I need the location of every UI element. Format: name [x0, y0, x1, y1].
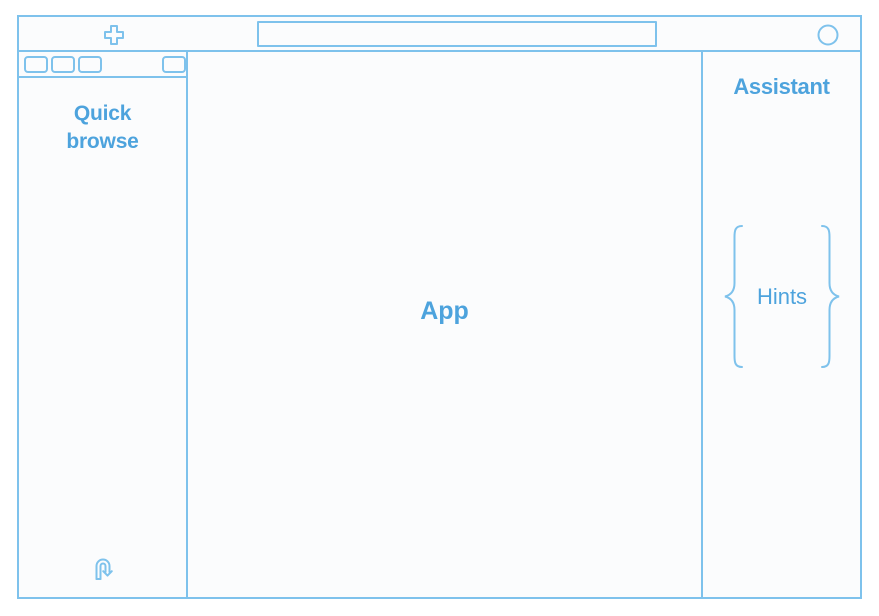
sidebar-toolbar-button-3[interactable] [78, 56, 102, 73]
plus-icon [101, 23, 127, 47]
address-input[interactable] [257, 21, 657, 47]
sidebar-toolbar-button-1[interactable] [24, 56, 48, 73]
assistant-title: Assistant [703, 74, 860, 100]
profile-avatar-button[interactable] [817, 24, 839, 46]
hints-label: Hints [757, 284, 807, 310]
browser-top-bar [19, 17, 860, 52]
sidebar-toolbar-button-4[interactable] [162, 56, 186, 73]
sidebar-content: Quickbrowse [19, 78, 186, 597]
right-curly-brace-icon [817, 223, 843, 370]
left-curly-brace-icon [721, 223, 747, 370]
quick-browse-title: Quickbrowse [19, 100, 186, 157]
hints-block: Hints [721, 223, 843, 370]
sidebar-toolbar-button-2[interactable] [51, 56, 75, 73]
u-turn-arrow-glyph [89, 553, 119, 583]
app-content-panel[interactable]: App [188, 52, 703, 597]
u-turn-arrow-icon[interactable] [89, 553, 119, 583]
browser-wireframe-window: Quickbrowse App Assistant [17, 15, 862, 599]
new-tab-button[interactable] [98, 23, 130, 47]
quick-browse-sidebar: Quickbrowse [19, 52, 188, 597]
window-body: Quickbrowse App Assistant [19, 52, 860, 597]
circle-avatar-icon [817, 24, 839, 46]
assistant-panel: Assistant Hints [703, 52, 860, 597]
sidebar-toolbar [19, 52, 186, 78]
app-label: App [420, 297, 469, 326]
